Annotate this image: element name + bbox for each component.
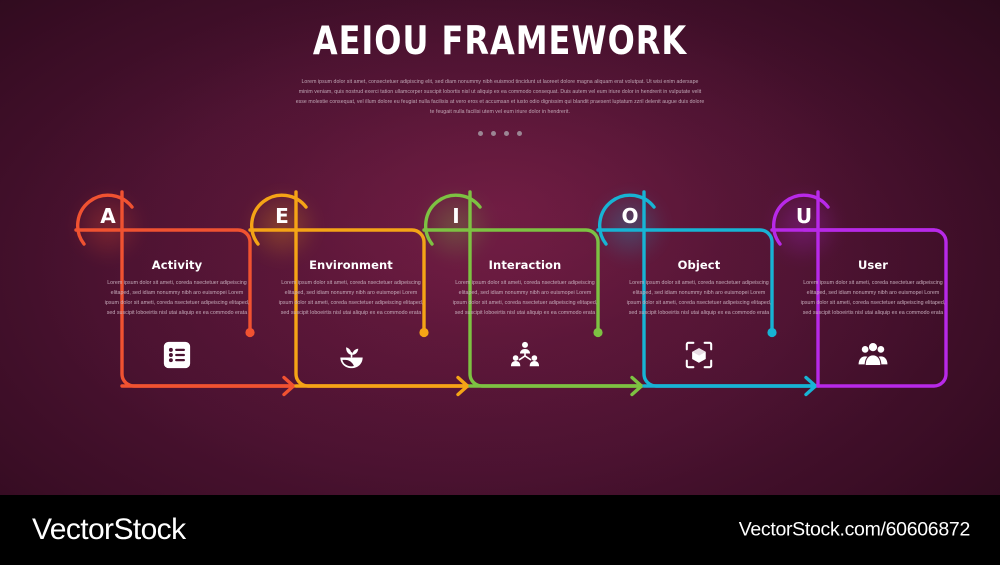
step-body-0: Lorem ipsum dolor sit ameti, coreda nsec… [104, 278, 250, 319]
step-body-1: Lorem ipsum dolor sit ameti, coreda nsec… [278, 278, 424, 319]
cube-scan-icon [624, 338, 774, 372]
header-block: AEIOU FRAMEWORK Lorem ipsum dolor sit am… [0, 22, 1000, 136]
step-title-2: Interaction [450, 258, 600, 272]
decorative-dots [0, 131, 1000, 136]
step-letter-badge-2: I [432, 206, 480, 226]
plant-sprout-bowl-icon [276, 338, 426, 372]
step-body-2: Lorem ipsum dolor sit ameti, coreda nsec… [452, 278, 598, 319]
dot-1 [478, 131, 483, 136]
step-body-4: Lorem ipsum dolor sit ameti, coreda nsec… [800, 278, 946, 319]
step-letter-badge-1: E [258, 206, 306, 226]
step-letter-badge-3: O [606, 206, 654, 226]
list-checklist-icon [102, 338, 252, 372]
people-group-icon [798, 338, 948, 372]
step-title-3: Object [624, 258, 774, 272]
dot-2 [491, 131, 496, 136]
infographic-canvas: AEIOU FRAMEWORK Lorem ipsum dolor sit am… [0, 0, 1000, 495]
step-card-user[interactable]: U User Lorem ipsum dolor sit ameti, core… [758, 186, 972, 408]
vectorstock-url: VectorStock.com/60606872 [739, 519, 970, 542]
step-title-0: Activity [102, 258, 252, 272]
step-letter-badge-4: U [780, 206, 828, 226]
step-letter-badge-0: A [84, 206, 132, 226]
vectorstock-logo: VectorStock [32, 513, 185, 547]
step-body-3: Lorem ipsum dolor sit ameti, coreda nsec… [626, 278, 772, 319]
step-title-4: User [798, 258, 948, 272]
dot-3 [504, 131, 509, 136]
step-title-1: Environment [276, 258, 426, 272]
dot-4 [517, 131, 522, 136]
people-network-icon [450, 338, 600, 372]
watermark-bar: VectorStock VectorStock.com/60606872 [0, 495, 1000, 565]
page-title: AEIOU FRAMEWORK [90, 22, 910, 61]
subtitle-paragraph: Lorem ipsum dolor sit amet, consectetuer… [294, 77, 706, 118]
